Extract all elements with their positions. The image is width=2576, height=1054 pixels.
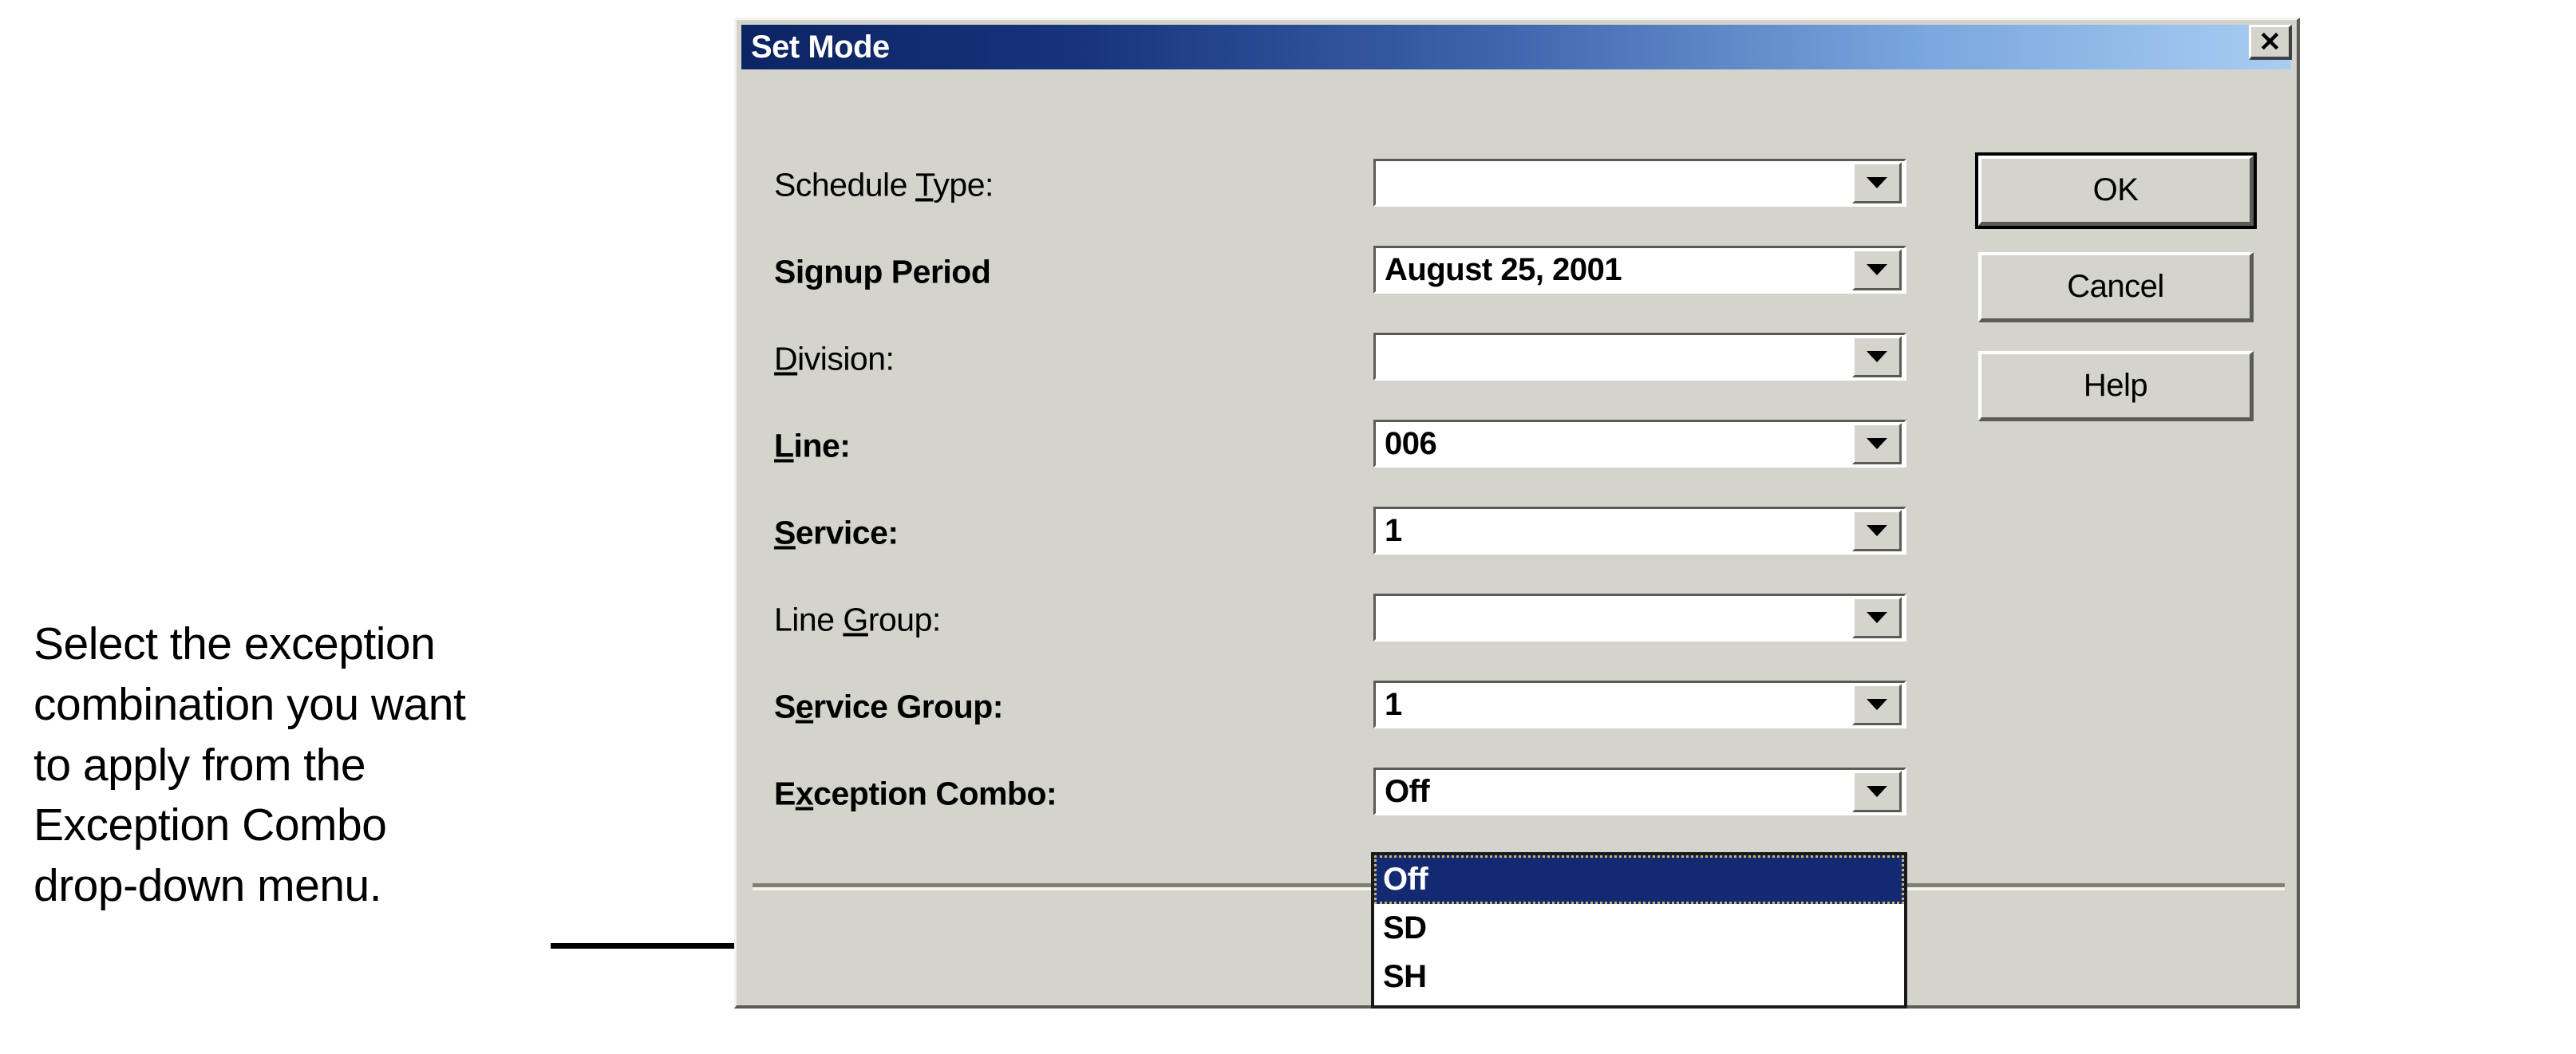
- chevron-down-icon[interactable]: [1852, 771, 1902, 812]
- combo-signup-period[interactable]: August 25, 2001: [1373, 246, 1906, 294]
- combo-service[interactable]: 1: [1373, 507, 1906, 555]
- combo-line[interactable]: 006: [1373, 420, 1906, 468]
- combo-value-signup-period: August 25, 2001: [1376, 252, 1852, 288]
- label-schedule-type: Schedule Type:: [774, 167, 994, 204]
- chevron-down-icon[interactable]: [1852, 249, 1902, 290]
- combo-service-group[interactable]: 1: [1373, 681, 1906, 728]
- dropdown-option-sd[interactable]: SD: [1374, 904, 1904, 953]
- combo-line-group[interactable]: [1373, 594, 1906, 641]
- instruction-annotation: Select the exception combination you wan…: [34, 614, 640, 917]
- chevron-down-icon[interactable]: [1852, 162, 1902, 203]
- combo-division[interactable]: [1373, 333, 1906, 381]
- chevron-down-icon[interactable]: [1852, 423, 1902, 464]
- label-service-group: Service Group:: [774, 689, 1003, 726]
- combo-value-service-group: 1: [1376, 687, 1852, 723]
- combo-value-line: 006: [1376, 426, 1852, 462]
- exception-combo-dropdown-list[interactable]: Off SD SH: [1371, 852, 1907, 1009]
- combo-schedule-type[interactable]: [1373, 159, 1906, 207]
- cancel-button[interactable]: Cancel: [1978, 252, 2254, 322]
- help-button[interactable]: Help: [1978, 351, 2254, 421]
- label-exception-combo: Exception Combo:: [774, 776, 1057, 813]
- dialog-title: Set Mode: [751, 30, 890, 65]
- ok-button[interactable]: OK: [1978, 156, 2254, 226]
- field-row-line-group: Line Group:: [737, 594, 2297, 646]
- label-line-group: Line Group:: [774, 602, 941, 639]
- label-division: Division:: [774, 341, 894, 378]
- chevron-down-icon[interactable]: [1852, 684, 1902, 725]
- field-row-line: Line: 006: [737, 420, 2297, 472]
- dropdown-option-sh[interactable]: SH: [1374, 953, 1904, 1001]
- field-row-service-group: Service Group: 1: [737, 681, 2297, 733]
- close-icon[interactable]: ✕: [2249, 25, 2292, 60]
- chevron-down-icon[interactable]: [1852, 597, 1902, 638]
- dialog-form-area: Schedule Type: Signup Period August 25, …: [737, 76, 2297, 1005]
- dropdown-option-off[interactable]: Off: [1374, 855, 1904, 904]
- chevron-down-icon[interactable]: [1852, 510, 1902, 551]
- label-line: Line:: [774, 428, 850, 465]
- dialog-titlebar[interactable]: Set Mode: [741, 25, 2291, 69]
- combo-value-exception-combo: Off: [1376, 774, 1852, 810]
- chevron-down-icon[interactable]: [1852, 336, 1902, 377]
- field-row-exception-combo: Exception Combo: Off: [737, 768, 2297, 820]
- field-row-service: Service: 1: [737, 507, 2297, 559]
- set-mode-dialog: Set Mode ✕ Schedule Type: Signup Period …: [734, 18, 2300, 1009]
- label-service: Service:: [774, 515, 899, 552]
- combo-value-service: 1: [1376, 513, 1852, 549]
- label-signup-period: Signup Period: [774, 254, 990, 291]
- combo-exception-combo[interactable]: Off: [1373, 768, 1906, 815]
